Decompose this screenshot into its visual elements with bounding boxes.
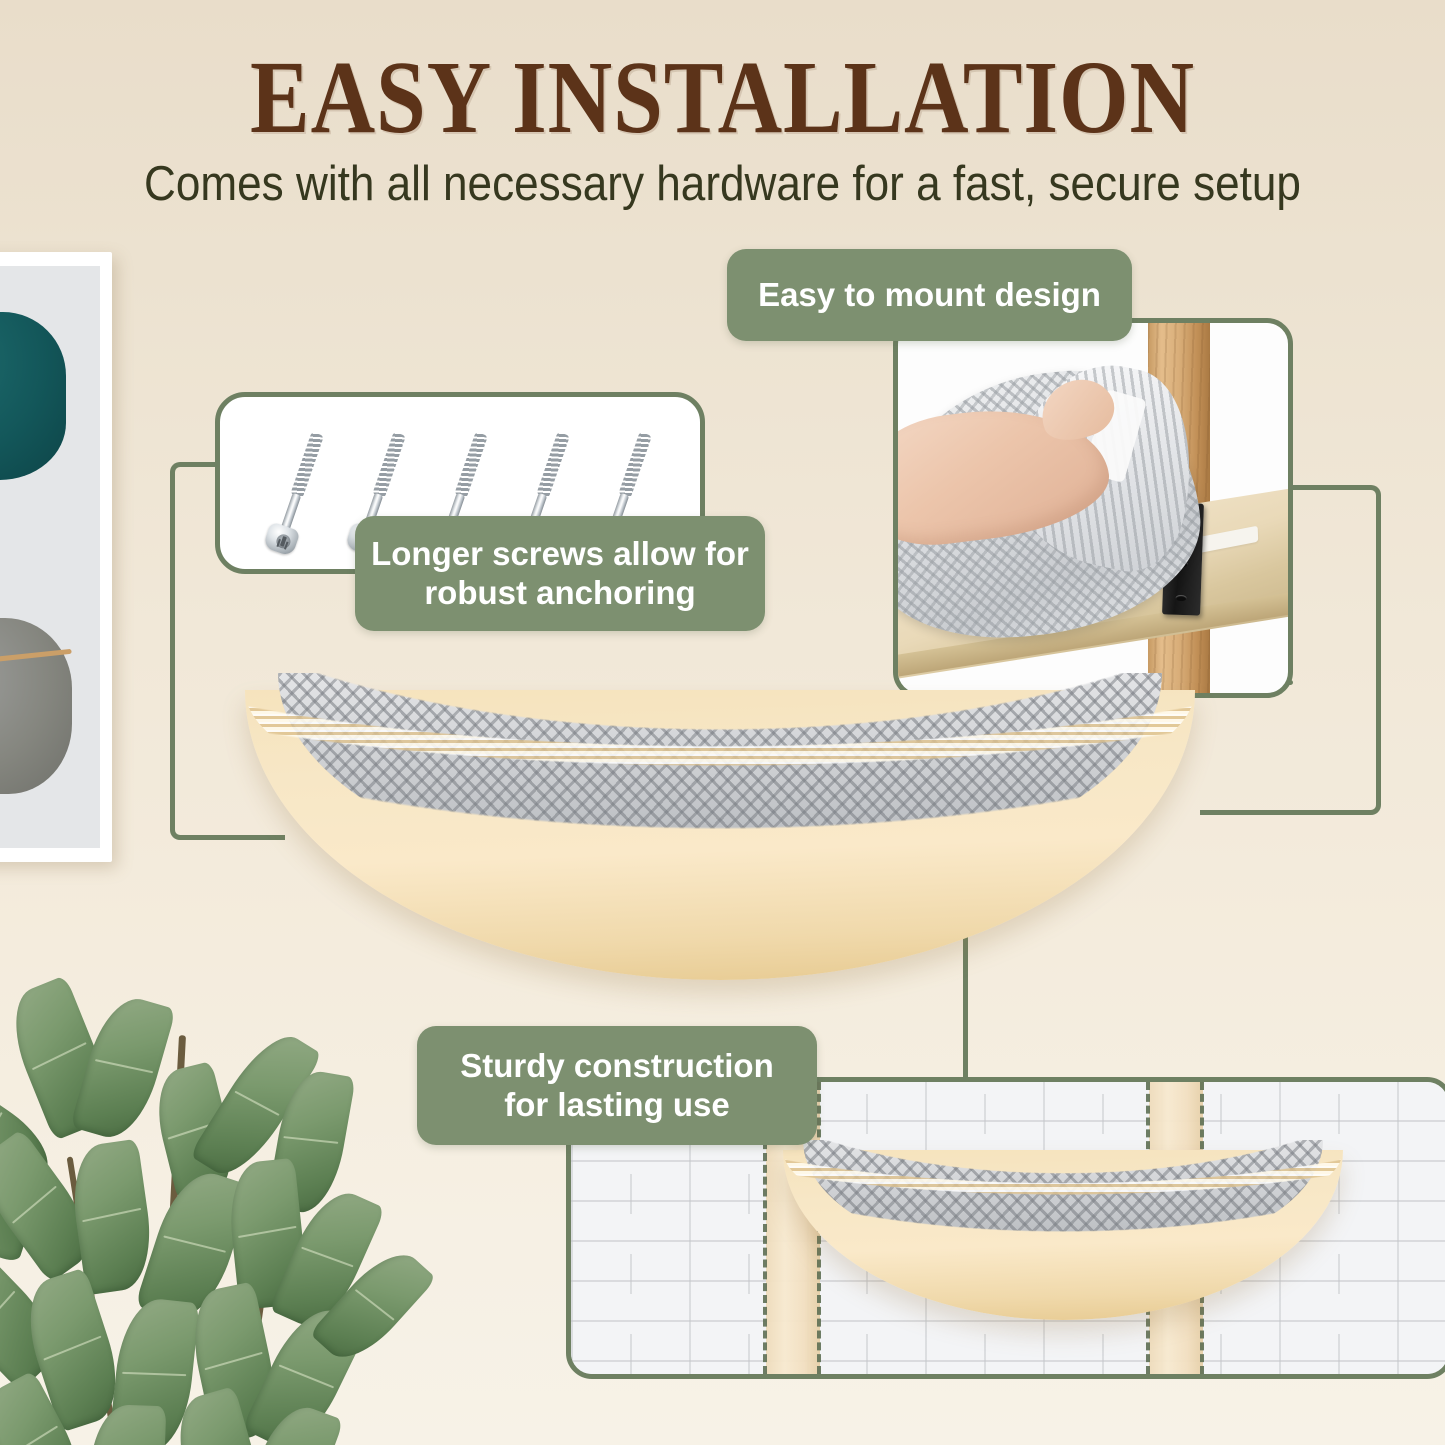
art-mat	[0, 266, 100, 848]
art-teal-shape	[0, 312, 66, 480]
callout-label: Longer screws allow forrobust anchoring	[371, 535, 749, 612]
callout-easy-to-mount[interactable]: Easy to mount design	[727, 249, 1132, 341]
callout-label: Sturdy constructionfor lasting use	[460, 1047, 774, 1124]
callout-sturdy-construction[interactable]: Sturdy constructionfor lasting use	[417, 1026, 817, 1145]
hand-lifting-cushion-inset	[893, 318, 1293, 698]
cat-hammock-mounted	[783, 1150, 1343, 1320]
page-subtitle: Comes with all necessary hardware for a …	[72, 158, 1373, 212]
infographic-canvas: EASY INSTALLATION Comes with all necessa…	[0, 0, 1445, 1445]
screw-icon	[270, 429, 325, 553]
framed-wall-art	[0, 252, 112, 862]
callout-label: Easy to mount design	[758, 276, 1101, 314]
cat-hammock-product	[245, 690, 1195, 980]
art-gray-shape	[0, 618, 72, 794]
page-title: EASY INSTALLATION	[101, 46, 1344, 150]
callout-longer-screws[interactable]: Longer screws allow forrobust anchoring	[355, 516, 765, 631]
